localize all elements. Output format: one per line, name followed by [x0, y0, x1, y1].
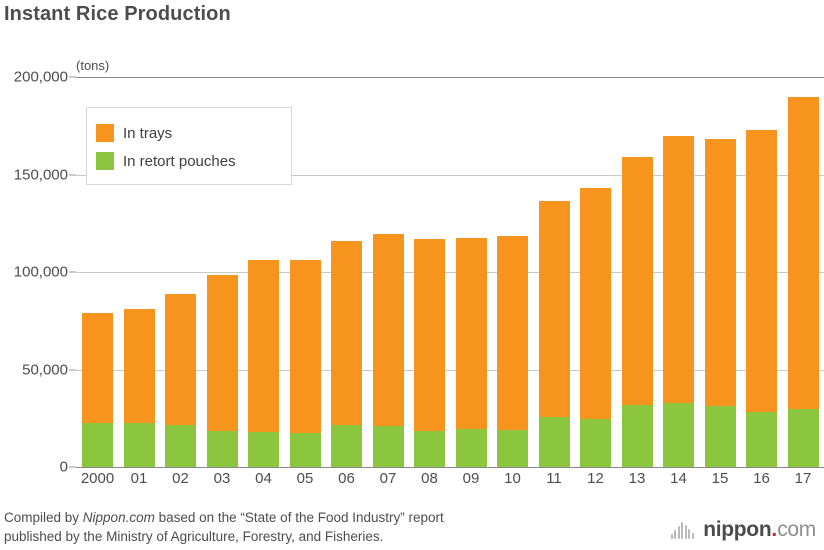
bar-segment-in-retort-pouches[interactable]: [165, 425, 196, 467]
legend-item-in-retort-pouches: In retort pouches: [96, 147, 291, 175]
y-axis-tick-mark: [69, 272, 76, 273]
legend-label-in-retort-pouches: In retort pouches: [123, 153, 236, 170]
bar-segment-in-trays[interactable]: [331, 241, 362, 425]
bar-segment-in-trays[interactable]: [746, 130, 777, 413]
bar-segment-in-retort-pouches[interactable]: [124, 423, 155, 467]
x-axis-tick-label: 17: [778, 470, 824, 487]
y-axis-units-label: (tons): [76, 58, 109, 73]
bar-segment-in-retort-pouches[interactable]: [705, 406, 736, 467]
bar-segment-in-trays[interactable]: [414, 239, 445, 431]
bar-segment-in-trays[interactable]: [82, 313, 113, 423]
x-axis: 20000102030405060708091011121314151617: [76, 470, 824, 494]
gridline-0: [76, 467, 824, 468]
bar-segment-in-trays[interactable]: [248, 260, 279, 432]
bar-segment-in-retort-pouches[interactable]: [248, 432, 279, 467]
y-axis-tick-mark: [69, 467, 76, 468]
bar-segment-in-trays[interactable]: [788, 97, 819, 409]
y-axis-tick-label: 0: [0, 459, 68, 476]
legend-label-in-trays: In trays: [123, 125, 172, 142]
bar-segment-in-trays[interactable]: [290, 260, 321, 433]
chart-legend: In trays In retort pouches: [86, 107, 292, 185]
page-title: Instant Rice Production: [4, 3, 231, 26]
y-axis-tick-mark: [69, 77, 76, 78]
source-note: Compiled by Nippon.com based on the “Sta…: [4, 508, 624, 546]
chart-page: Instant Rice Production (tons) 050,00010…: [0, 0, 824, 550]
bar-segment-in-retort-pouches[interactable]: [497, 430, 528, 467]
bar-segment-in-retort-pouches[interactable]: [373, 426, 404, 467]
bar-segment-in-trays[interactable]: [165, 294, 196, 425]
bar-segment-in-trays[interactable]: [622, 157, 653, 405]
legend-swatch-in-trays: [96, 124, 114, 142]
bar-segment-in-trays[interactable]: [705, 139, 736, 405]
bar-segment-in-retort-pouches[interactable]: [580, 419, 611, 467]
bar-segment-in-trays[interactable]: [124, 309, 155, 423]
nippon-com-logo[interactable]: nippon.com: [671, 518, 816, 542]
y-axis-tick-label: 150,000: [0, 166, 68, 183]
bar-segment-in-retort-pouches[interactable]: [290, 433, 321, 467]
sound-bars-icon: [671, 521, 696, 539]
source-note-line2: published by the Ministry of Agriculture…: [4, 529, 383, 544]
bar-segment-in-retort-pouches[interactable]: [207, 431, 238, 467]
y-axis-tick-label: 50,000: [0, 361, 68, 378]
bar-segment-in-trays[interactable]: [663, 136, 694, 402]
bar-segment-in-retort-pouches[interactable]: [331, 425, 362, 467]
bar-segment-in-trays[interactable]: [580, 188, 611, 419]
legend-swatch-in-retort-pouches: [96, 152, 114, 170]
bar-segment-in-retort-pouches[interactable]: [539, 417, 570, 467]
bar-segment-in-retort-pouches[interactable]: [788, 409, 819, 467]
bar-segment-in-retort-pouches[interactable]: [746, 412, 777, 467]
source-note-line1-prefix: Compiled by: [4, 510, 83, 525]
bar-segment-in-trays[interactable]: [456, 238, 487, 429]
bar-segment-in-trays[interactable]: [539, 201, 570, 417]
bar-segment-in-retort-pouches[interactable]: [456, 429, 487, 467]
legend-item-in-trays: In trays: [96, 119, 291, 147]
source-note-line1-suffix: based on the “State of the Food Industry…: [155, 510, 444, 525]
y-axis-tick-mark: [69, 369, 76, 370]
logo-tld: com: [777, 518, 816, 542]
bar-segment-in-trays[interactable]: [207, 275, 238, 431]
y-axis-tick-label: 200,000: [0, 69, 68, 86]
bar-segment-in-retort-pouches[interactable]: [414, 431, 445, 467]
y-axis-tick-label: 100,000: [0, 264, 68, 281]
y-axis-tick-mark: [69, 174, 76, 175]
logo-name: nippon: [703, 518, 771, 542]
bar-segment-in-retort-pouches[interactable]: [663, 403, 694, 467]
bar-segment-in-retort-pouches[interactable]: [82, 423, 113, 467]
source-note-publisher: Nippon.com: [83, 510, 155, 525]
bar-segment-in-trays[interactable]: [497, 236, 528, 430]
bar-segment-in-retort-pouches[interactable]: [622, 405, 653, 467]
bar-segment-in-trays[interactable]: [373, 234, 404, 426]
